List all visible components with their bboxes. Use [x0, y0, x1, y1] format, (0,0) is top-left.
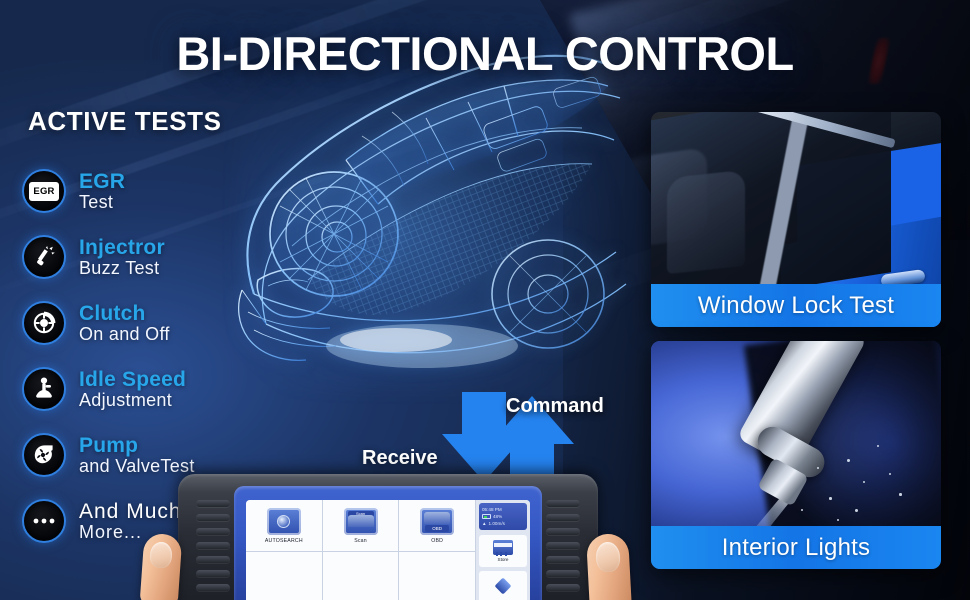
pump-icon — [22, 433, 66, 477]
status-time-row: 05:48 PM — [482, 506, 524, 513]
tile-label: OBD — [431, 538, 443, 544]
feature-title: Idle Speed — [79, 369, 186, 391]
injector-icon — [22, 235, 66, 279]
car-seat — [667, 170, 745, 274]
scan-icon: Scan — [344, 508, 378, 535]
tablet-tile-autosearch[interactable]: AUTOSEARCH — [246, 500, 323, 551]
promo-banner: BI-DIRECTIONAL CONTROL ACTIVE TESTS EGR … — [0, 0, 970, 600]
feature-title: EGR — [79, 171, 125, 193]
egr-badge-label: EGR — [29, 182, 59, 201]
feature-subtitle: Buzz Test — [79, 259, 165, 278]
feature-subtitle: Test — [79, 193, 125, 212]
tablet-sidebar: 05:48 PM 48% ▲ 1.00m/s Store — [476, 500, 530, 600]
list-item: Injectror Buzz Test — [22, 224, 282, 290]
tile-label: AUTOSEARCH — [265, 538, 303, 544]
tablet-app-grid: AUTOSEARCH Scan Scan OBD OBD — [246, 500, 476, 600]
idle-speed-icon — [22, 367, 66, 411]
list-item: EGR EGR Test — [22, 158, 282, 224]
clutch-icon — [22, 301, 66, 345]
egr-icon: EGR — [22, 169, 66, 213]
tablet-tile-empty[interactable] — [323, 552, 400, 600]
status-time: 05:48 PM — [482, 506, 502, 513]
left-hand — [128, 520, 220, 600]
ellipsis-icon — [22, 499, 66, 543]
tablet-extra-button[interactable] — [479, 571, 527, 600]
status-battery: 48% — [493, 513, 502, 520]
tablet-app-row: AUTOSEARCH Scan Scan OBD OBD — [246, 500, 476, 552]
section-label: ACTIVE TESTS — [28, 106, 222, 137]
tablet-tile-scan[interactable]: Scan Scan — [323, 500, 400, 551]
page-title: BI-DIRECTIONAL CONTROL — [0, 26, 970, 81]
photo-caption: Interior Lights — [651, 526, 941, 569]
feature-title: Pump — [79, 435, 195, 457]
tablet-status-bar: 05:48 PM 48% ▲ 1.00m/s — [479, 503, 527, 530]
status-battery-row: 48% — [482, 513, 524, 520]
receive-label: Receive — [362, 447, 438, 470]
battery-icon — [482, 514, 491, 519]
store-icon — [493, 540, 513, 555]
photo-caption: Window Lock Test — [651, 284, 941, 327]
tablet-tile-obd[interactable]: OBD OBD — [399, 500, 476, 551]
diagnostic-tablet: AUTOSEARCH Scan Scan OBD OBD — [178, 474, 598, 600]
photo-card-window-lock: Window Lock Test — [651, 112, 941, 327]
autosearch-icon — [267, 508, 301, 535]
list-item: Clutch On and Off — [22, 290, 282, 356]
feature-subtitle: On and Off — [79, 325, 170, 344]
tablet-store-button[interactable]: Store — [479, 535, 527, 566]
right-hand — [566, 516, 662, 600]
feature-subtitle: and ValveTest — [79, 457, 195, 476]
feature-title: Clutch — [79, 303, 170, 325]
photo-card-interior-lights: Interior Lights — [651, 341, 941, 569]
feature-subtitle: Adjustment — [79, 391, 186, 410]
command-label: Command — [506, 395, 604, 418]
feature-title: Injectror — [79, 237, 165, 259]
tablet-tile-empty[interactable] — [246, 552, 323, 600]
status-network-row: ▲ 1.00m/s — [482, 520, 524, 527]
diamond-icon — [495, 578, 512, 595]
network-icon: ▲ — [482, 520, 487, 527]
tablet-tile-empty[interactable] — [399, 552, 476, 600]
store-label: Store — [498, 557, 509, 562]
tablet-app-row-empty — [246, 552, 476, 600]
list-item: Idle Speed Adjustment — [22, 356, 282, 422]
tablet-screen[interactable]: AUTOSEARCH Scan Scan OBD OBD — [246, 500, 530, 600]
status-network: 1.00m/s — [489, 520, 505, 527]
obd-icon: OBD — [420, 508, 454, 535]
tile-label: Scan — [354, 538, 367, 544]
